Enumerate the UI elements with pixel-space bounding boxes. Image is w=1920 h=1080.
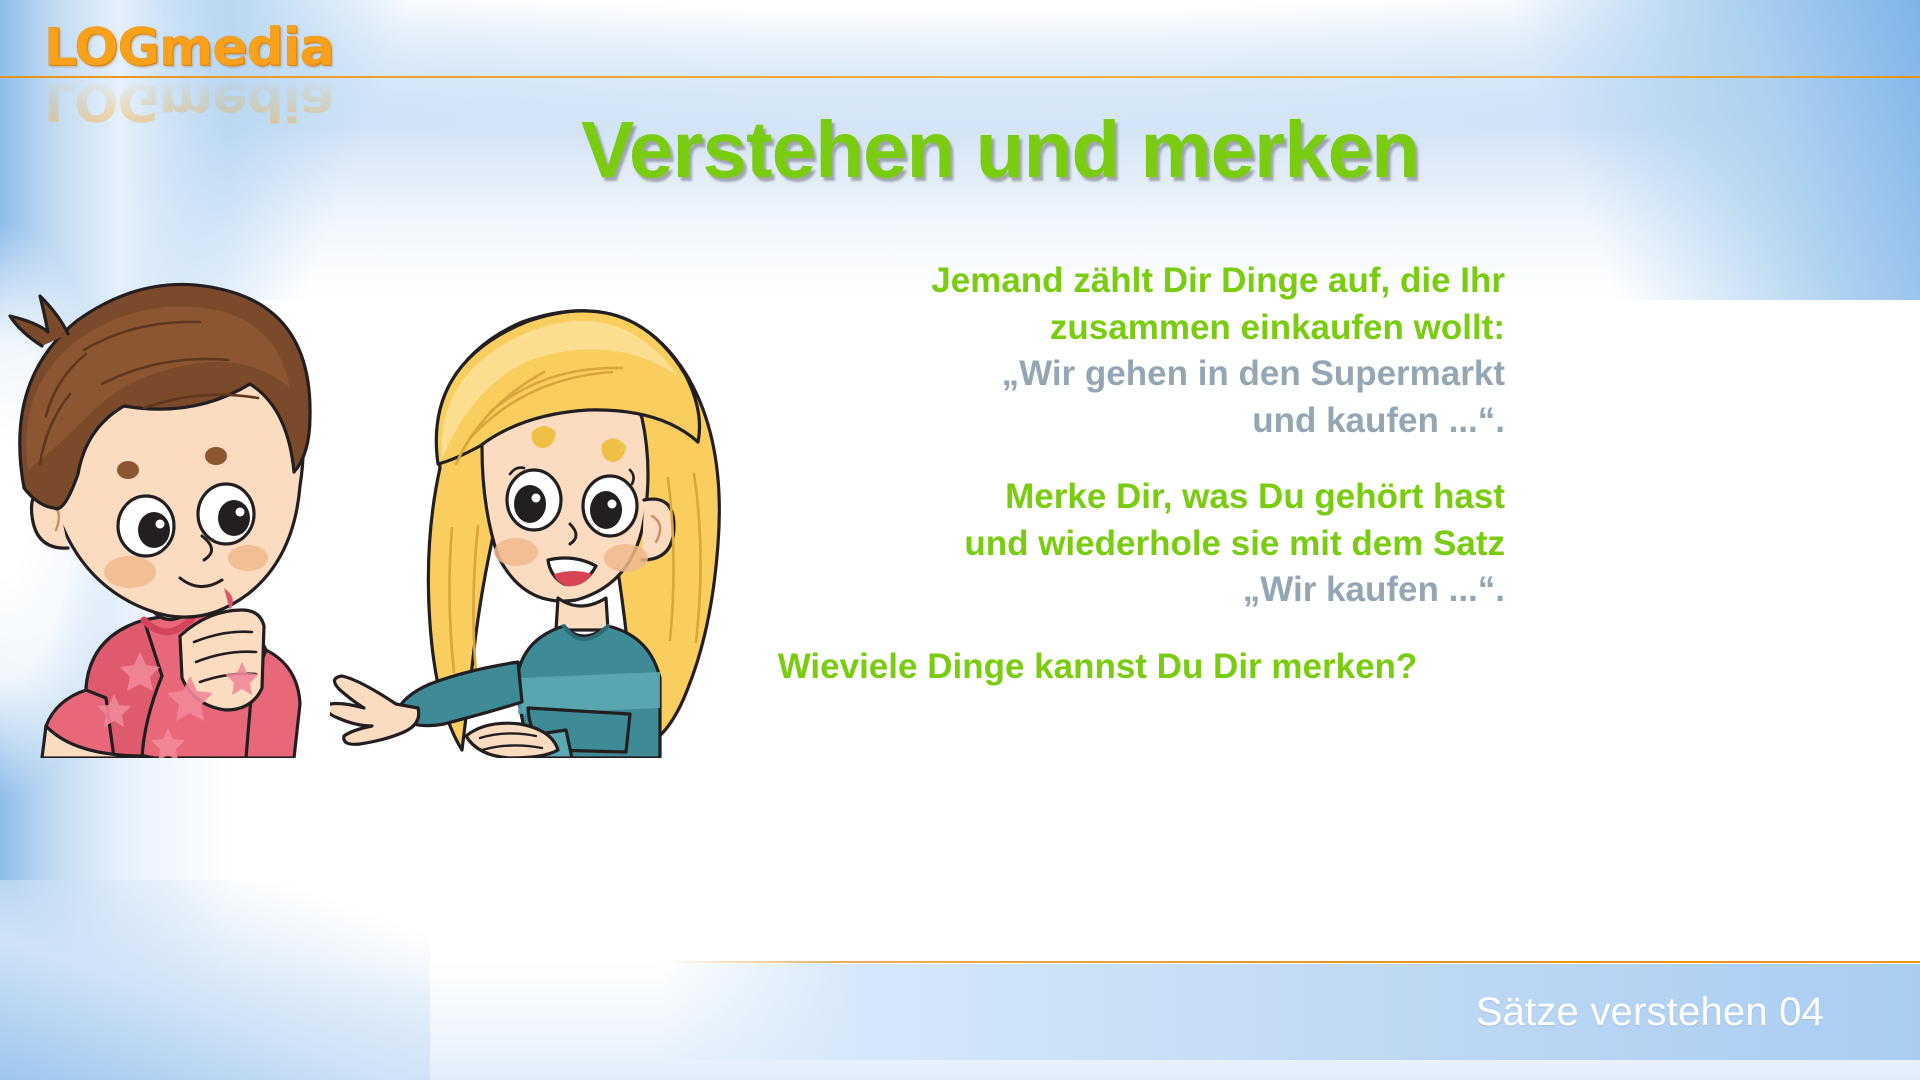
content-text-block: Jemand zählt Dir Dinge auf, die Ihr zusa… <box>690 258 1505 690</box>
content-spacer-1 <box>690 444 1505 474</box>
content-spacer-2 <box>690 614 1505 644</box>
content-line-2: zusammen einkaufen wollt: <box>690 305 1505 352</box>
logo-text: LOGmedia <box>44 22 374 74</box>
content-line-6: und wiederhole sie mit dem Satz <box>690 521 1505 568</box>
footer-bar: Sätze verstehen 04 <box>660 964 1920 1060</box>
content-line-3: „Wir gehen in den Supermarkt <box>690 351 1505 398</box>
thinking-boy-icon <box>0 258 334 758</box>
logo-reflection: LOGmedia <box>44 75 374 127</box>
page-title: Verstehen und merken <box>520 108 1480 192</box>
slide-canvas: LOGmedia LOGmedia Verstehen und merken <box>0 0 1920 1080</box>
content-line-1: Jemand zählt Dir Dinge auf, die Ihr <box>690 258 1505 305</box>
content-line-4: und kaufen ...“. <box>690 398 1505 445</box>
content-line-7: „Wir kaufen ...“. <box>690 567 1505 614</box>
footer-label: Sätze verstehen 04 <box>1476 990 1824 1035</box>
content-line-5: Merke Dir, was Du gehört hast <box>690 474 1505 521</box>
footer-divider-rule <box>660 961 1920 963</box>
logo: LOGmedia LOGmedia <box>44 22 374 132</box>
background-bottom-left-corner <box>0 880 430 1080</box>
content-question-line: Wieviele Dinge kannst Du Dir merken? <box>690 644 1505 691</box>
background-top-right-corner <box>1500 0 1920 300</box>
